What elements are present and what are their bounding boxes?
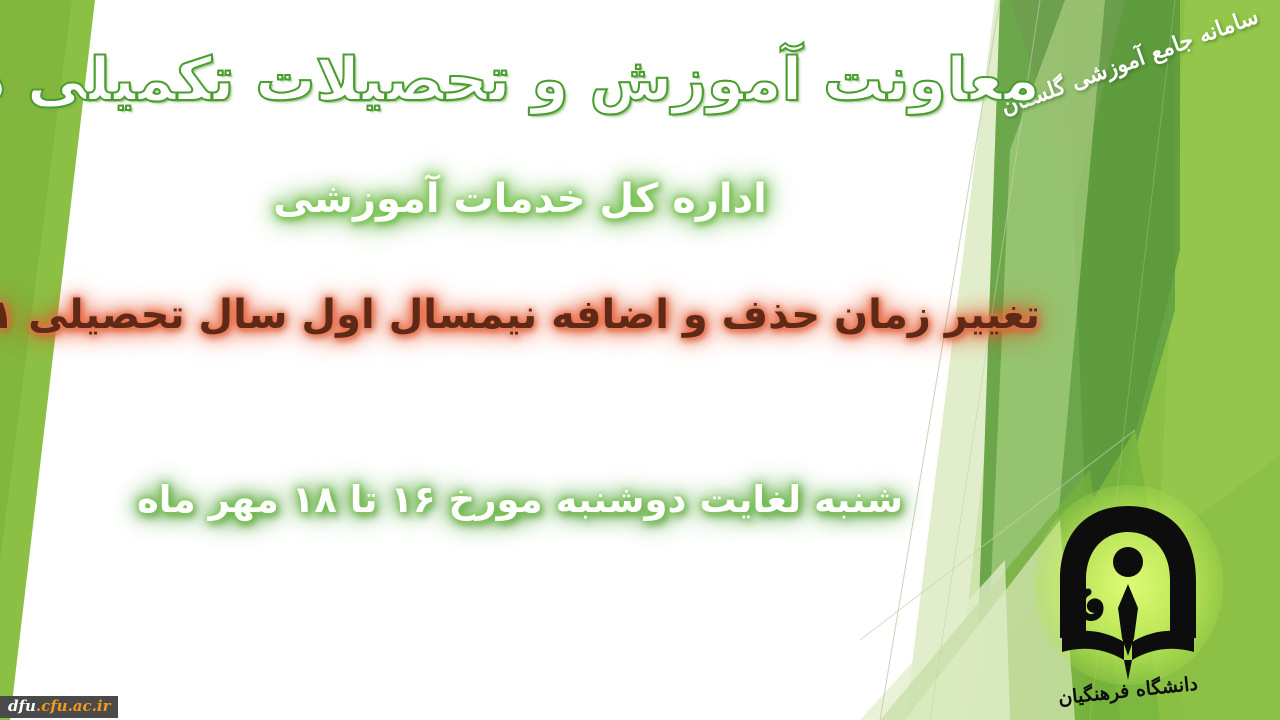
bottom-pale-wedge-2: [860, 560, 1010, 720]
page-title: معاونت آموزش و تحصیلات تکمیلی دانشگاه: [0, 46, 1040, 115]
farhangian-logo-icon: [1038, 488, 1218, 698]
department-subtitle: اداره کل خدمات آموزشی: [0, 176, 1040, 222]
site-url-watermark: dfu.cfu.ac.ir: [0, 696, 118, 718]
announcement-date-range: شنبه لغایت دوشنبه مورخ ۱۶ تا ۱۸ مهر ماه: [0, 478, 1040, 521]
announcement-headline: تغییر زمان حذف و اضافه نیمسال اول سال تح…: [0, 292, 1040, 338]
announcement-banner: سامانه جامع آموزشی گلستان معاونت آموزش و…: [0, 0, 1280, 720]
url-domain: .cfu.ac.ir: [36, 697, 111, 715]
title-block: معاونت آموزش و تحصیلات تکمیلی دانشگاه اد…: [0, 0, 1040, 420]
url-prefix: dfu: [8, 697, 36, 715]
golestan-system-label: سامانه جامع آموزشی گلستان: [1018, 3, 1262, 113]
university-logo: دانشگاه فرهنگیان: [1038, 488, 1218, 698]
